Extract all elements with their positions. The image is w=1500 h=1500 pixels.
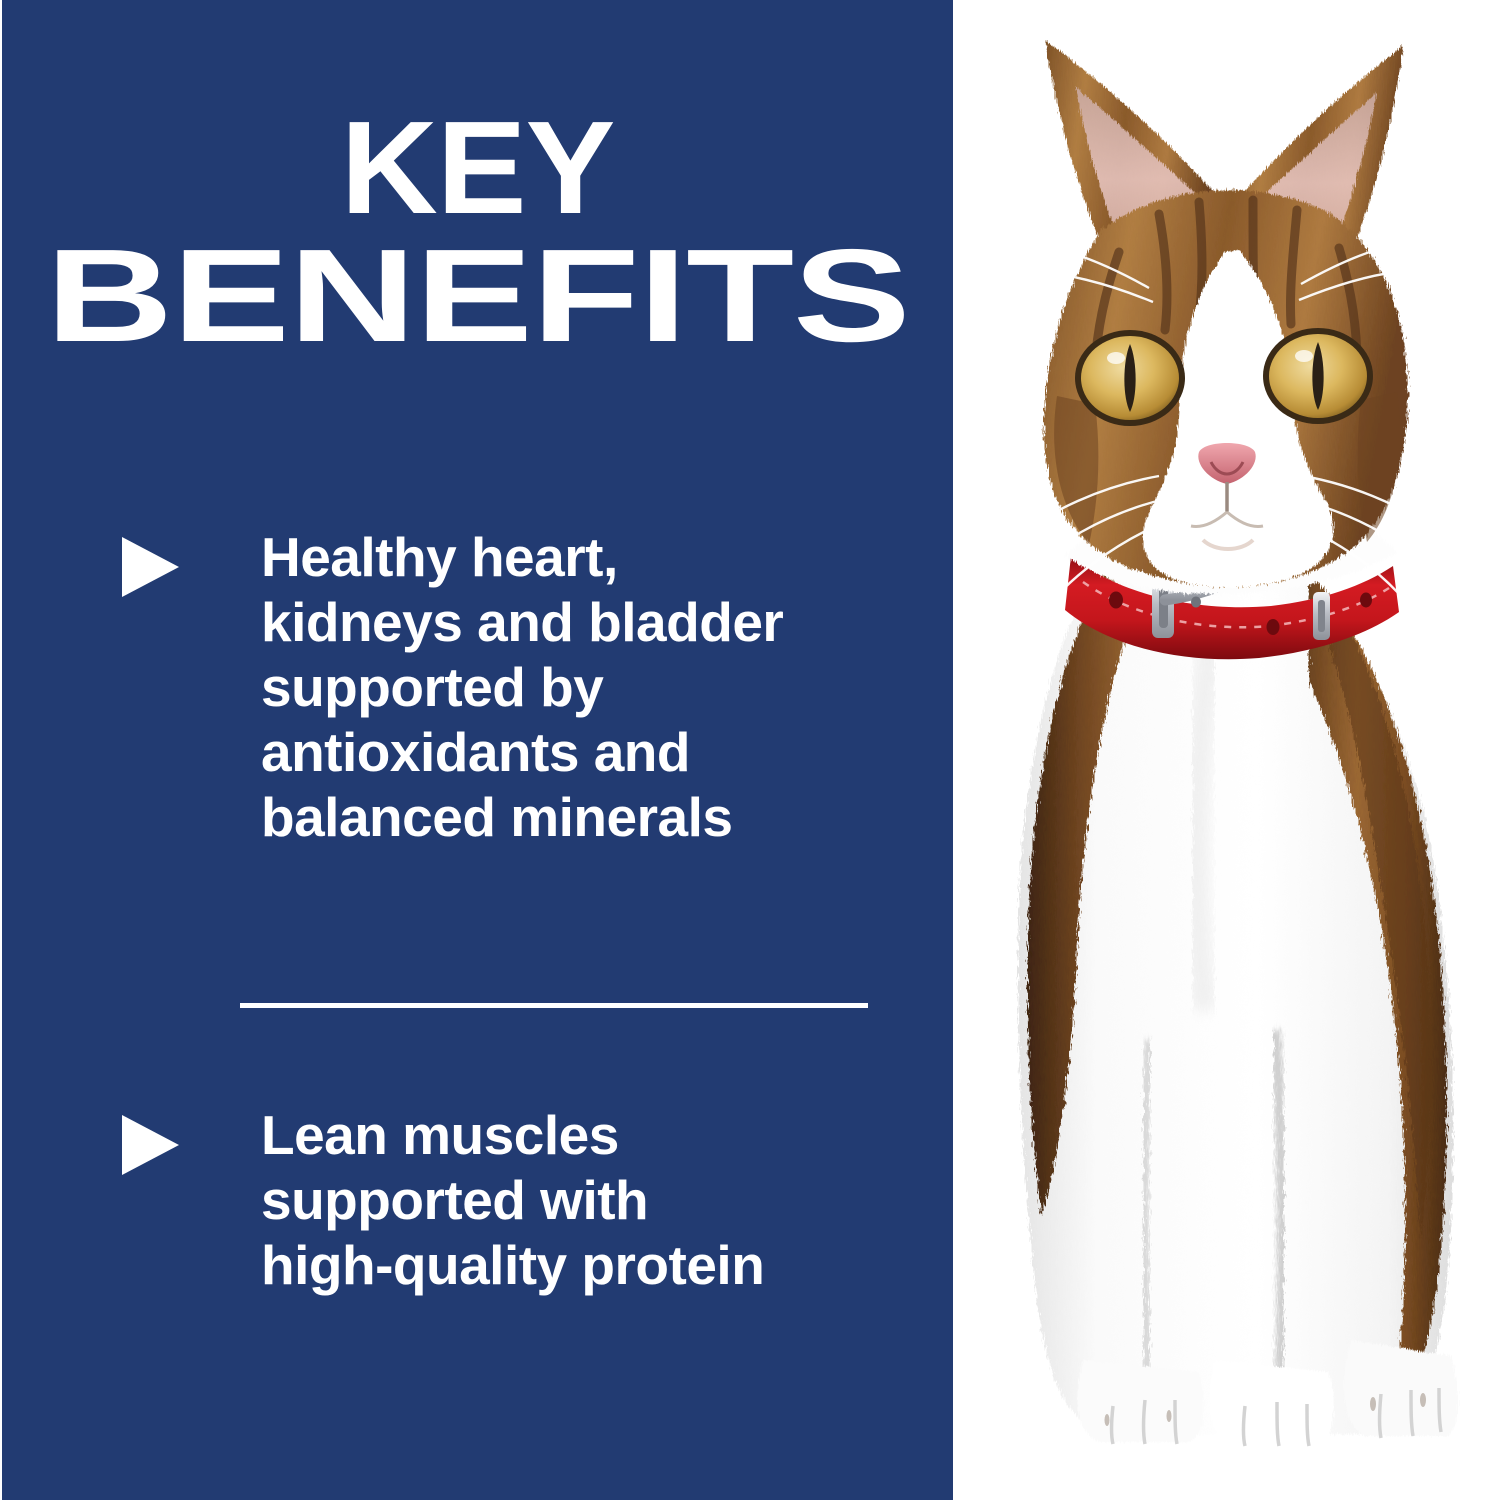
- benefit-item-2-text: Lean muscles supported with high-quality…: [261, 1103, 764, 1298]
- key-benefits-panel: KEY BENEFITS Healthy heart, kidneys and …: [2, 0, 953, 1500]
- headline-line-1: KEY: [2, 104, 953, 232]
- benefit-item-1-text: Healthy heart, kidneys and bladder suppo…: [261, 525, 783, 849]
- benefit-divider: [240, 1003, 868, 1008]
- benefit-item-2: Lean muscles supported with high-quality…: [122, 1103, 912, 1298]
- headline-line-2: BENEFITS: [2, 232, 953, 360]
- benefit-item-1: Healthy heart, kidneys and bladder suppo…: [122, 525, 912, 849]
- triangle-right-icon: [122, 537, 179, 597]
- page-title: KEY BENEFITS: [2, 104, 953, 360]
- cat-photo: [953, 0, 1500, 1500]
- key-benefits-poster: KEY BENEFITS Healthy heart, kidneys and …: [0, 0, 1500, 1500]
- triangle-right-icon: [122, 1115, 179, 1175]
